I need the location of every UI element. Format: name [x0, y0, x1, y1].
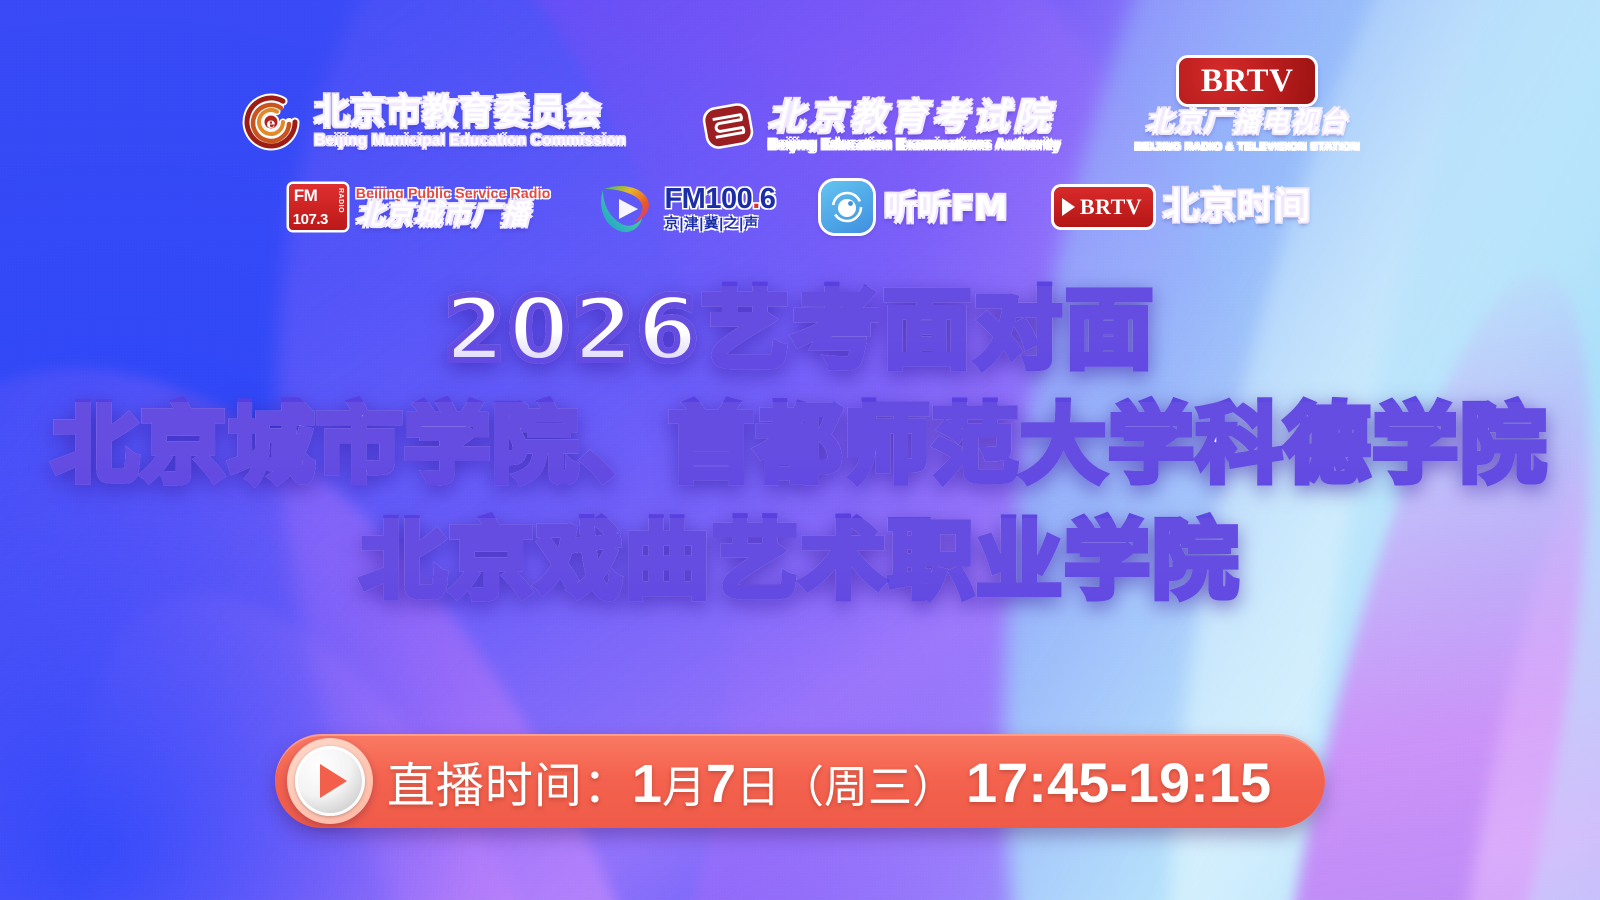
logo-text-block: 北京市教育委员会 Beijing Municipal Education Com…	[314, 96, 626, 149]
schedule-day-number: 7	[706, 753, 736, 815]
brtv-play-badge-icon: BRTV	[1054, 187, 1153, 227]
page-title: 2026艺考面对面	[0, 286, 1600, 374]
logo-cn-name: 北京教育考试院	[768, 100, 1061, 136]
play-triangle-icon	[1062, 198, 1075, 216]
logo-text-block: Beijing Public Service Radio 北京城市广播	[356, 186, 551, 229]
logo-cn-name: 北京城市广播	[356, 201, 551, 229]
swirl-e-emblem-icon: e	[240, 91, 302, 153]
logo-beijing-education-examinations-authority: 北京教育考试院 Beijing Education Examinations A…	[700, 99, 1061, 153]
logo-cn-name: 京|津|冀|之|声	[664, 216, 759, 230]
logo-brtv: BRTV 北京广播电视台 BEIJING RADIO & TELEVISION …	[1135, 58, 1360, 153]
fm-mark-line-2: 107.3	[293, 212, 328, 227]
title-subline-schools-1: 北京城市学院、首都师范大学科德学院	[0, 402, 1600, 488]
title-subline-schools-2: 北京戏曲艺术职业学院	[0, 518, 1600, 604]
logo-wordmark: FM100.6	[664, 185, 775, 214]
fm-red-block-icon: FM 107.3 RADIO	[289, 184, 347, 230]
logo-fm-1073-beijing-city-radio: FM 107.3 RADIO Beijing Public Service Ra…	[289, 184, 551, 230]
schedule-day-unit: 日	[736, 751, 780, 815]
stacked-books-emblem-icon	[700, 99, 756, 153]
brtv-wordmark: BRTV	[1080, 194, 1142, 220]
logo-cn-name: 北京时间	[1163, 189, 1311, 225]
brtv-wordmark: BRTV	[1201, 65, 1294, 98]
poster-stage: e 北京市教育委员会 Beijing Municipal Education C…	[0, 0, 1600, 900]
sponsor-logo-row-secondary: FM 107.3 RADIO Beijing Public Service Ra…	[0, 178, 1600, 236]
brtv-red-badge-icon: BRTV	[1179, 58, 1315, 104]
logo-cn-name: 听听FM	[884, 191, 1007, 224]
play-circle-icon[interactable]	[287, 738, 373, 824]
play-triangle-icon	[320, 764, 347, 798]
schedule-label: 直播时间：	[387, 746, 632, 816]
fm-mark-vertical-label: RADIO	[337, 188, 344, 213]
logo-en-name: Beijing Education Examinations Authority	[768, 138, 1061, 153]
tingting-app-icon	[821, 181, 873, 233]
schedule-month-number: 1	[632, 753, 662, 815]
logo-en-name: BEIJING RADIO & TELEVISION STATION	[1135, 141, 1360, 153]
sponsor-logo-row-primary: e 北京市教育委员会 Beijing Municipal Education C…	[0, 58, 1600, 153]
play-circle-inner	[295, 746, 365, 816]
logo-tingting-fm: 听听FM	[821, 181, 1007, 233]
rainbow-play-swirl-icon	[596, 178, 654, 236]
logo-fm-1006: FM100.6 京|津|冀|之|声	[596, 178, 775, 236]
schedule-month-unit: 月	[662, 751, 706, 815]
schedule-weekday: （周三）	[780, 751, 956, 815]
logo-text-block: FM100.6 京|津|冀|之|声	[664, 185, 775, 230]
fm-mark-line-1: FM	[294, 187, 318, 204]
logo-en-name: Beijing Municipal Education Commission	[314, 133, 626, 149]
logo-text-block: 北京教育考试院 Beijing Education Examinations A…	[768, 100, 1061, 153]
schedule-time-range: 17:45-19:15	[966, 750, 1271, 815]
logo-cn-name: 北京市教育委员会	[314, 96, 626, 131]
svg-text:e: e	[267, 116, 276, 132]
schedule-banner[interactable]: 直播时间： 1 月 7 日 （周三） 17:45-19:15	[275, 734, 1325, 828]
schedule-text: 直播时间： 1 月 7 日 （周三） 17:45-19:15	[387, 746, 1271, 816]
logo-beijing-municipal-education-commission: e 北京市教育委员会 Beijing Municipal Education C…	[240, 91, 626, 153]
poster-title-block: 2026艺考面对面 北京城市学院、首都师范大学科德学院 北京戏曲艺术职业学院	[0, 286, 1600, 604]
logo-brtv-beijing-time: BRTV 北京时间	[1054, 187, 1311, 227]
logo-cn-name: 北京广播电视台	[1146, 109, 1349, 136]
schedule-banner-wrapper: 直播时间： 1 月 7 日 （周三） 17:45-19:15	[0, 734, 1600, 828]
